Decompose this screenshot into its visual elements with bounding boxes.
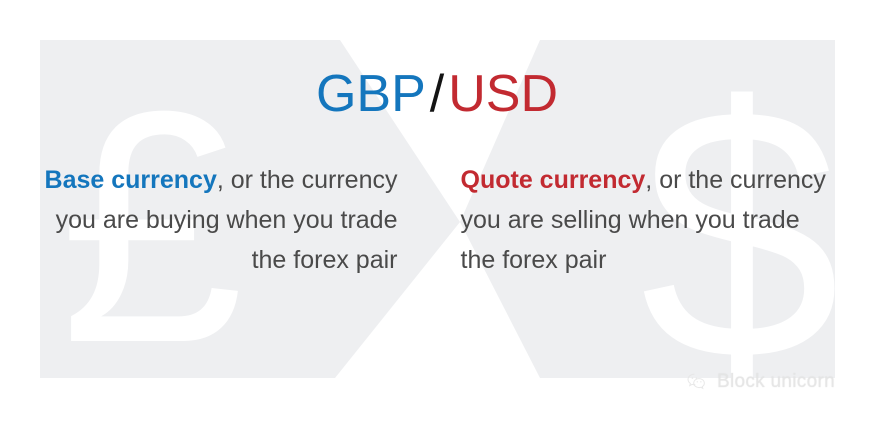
base-currency-code: GBP (316, 65, 426, 123)
quote-currency-label: Quote currency (461, 166, 646, 194)
base-currency-definition: Base currency, or the currency you are b… (40, 160, 398, 280)
quote-currency-column: Quote currency, or the currency you are … (438, 160, 836, 340)
brand-name: Block unicorn (717, 371, 835, 393)
quote-currency-label-punct: , (645, 166, 652, 194)
brand-watermark: Block unicorn (686, 371, 835, 393)
definitions-container: Base currency, or the currency you are b… (40, 160, 835, 340)
forex-pair-infographic: £ $ GBP/USD Base currency, or the curren… (0, 0, 874, 424)
pair-separator: / (426, 65, 448, 123)
wechat-icon (686, 371, 708, 393)
page-title: GBP/USD (0, 68, 874, 120)
quote-currency-definition: Quote currency, or the currency you are … (461, 160, 836, 280)
quote-currency-code: USD (448, 65, 558, 123)
base-currency-label: Base currency (45, 166, 217, 194)
base-currency-label-punct: , (217, 166, 224, 194)
base-currency-column: Base currency, or the currency you are b… (40, 160, 438, 340)
